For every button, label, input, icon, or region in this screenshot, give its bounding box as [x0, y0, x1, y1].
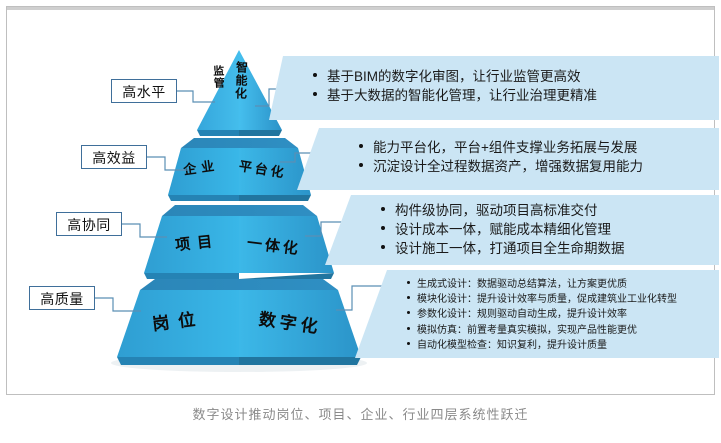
bullet-item: 能力平台化，平台+组件支撑业务拓展与发展 [359, 138, 643, 157]
bullet-text: 基于大数据的智能化管理，让行业治理更精准 [327, 86, 597, 105]
info-panel-enterprise-text: 能力平台化，平台+组件支撑业务拓展与发展 沉淀设计全过程数据资产，增强数据复用能… [359, 138, 643, 176]
bullet-item: 参数化设计：规则驱动自动生成，提升设计效率 [407, 307, 677, 322]
info-panel-project-text: 构件级协同，驱动项目高标准交付 设计成本一体，赋能成本精细化管理 设计施工一体，… [381, 201, 625, 258]
bullet-dot [313, 73, 317, 77]
bullet-dot [359, 163, 363, 167]
bullet-text: 参数化设计：规则驱动自动生成，提升设计效率 [417, 307, 627, 322]
bullet-item: 构件级协同，驱动项目高标准交付 [381, 201, 625, 220]
image-frame: 监管 智能化 企业 平台化 项目 一体化 岗位 数字化 [6, 6, 715, 395]
left-label-high-quality[interactable]: 高质量 [29, 286, 95, 310]
bullet-item: 设计成本一体，赋能成本精细化管理 [381, 220, 625, 239]
bullet-item: 沉淀设计全过程数据资产，增强数据复用能力 [359, 157, 643, 176]
bullet-dot [407, 311, 410, 314]
bullet-dot [407, 327, 410, 330]
bullet-item: 模块化设计：提升设计效率与质量，促成建筑业工业化转型 [407, 292, 677, 307]
bullet-item: 自动化模型检查：知识复利，提升设计质量 [407, 338, 677, 353]
bullet-dot [381, 226, 385, 230]
info-panel-position-text: 生成式设计：数据驱动总结算法，让方案更优质 模块化设计：提升设计效率与质量，促成… [407, 277, 677, 353]
bullet-item: 设计施工一体，打通项目全生命期数据 [381, 239, 625, 258]
bullet-text: 设计施工一体，打通项目全生命期数据 [395, 239, 625, 258]
info-panel-project: 构件级协同，驱动项目高标准交付 设计成本一体，赋能成本精细化管理 设计施工一体，… [325, 195, 719, 265]
bullet-text: 沉淀设计全过程数据资产，增强数据复用能力 [373, 157, 643, 176]
bullet-dot [313, 92, 317, 96]
bullet-text: 设计成本一体，赋能成本精细化管理 [395, 220, 611, 239]
left-label-high-efficiency[interactable]: 高效益 [81, 145, 147, 169]
bullet-text: 模拟仿真：前置考量真实模拟，实现产品性能更优 [417, 323, 637, 338]
bullet-item: 基于BIM的数字化审图，让行业监管更高效 [313, 67, 597, 86]
bullet-item: 模拟仿真：前置考量真实模拟，实现产品性能更优 [407, 323, 677, 338]
bullet-dot [407, 342, 410, 345]
bullet-dot [381, 207, 385, 211]
bullet-text: 自动化模型检查：知识复利，提升设计质量 [417, 338, 607, 353]
info-panel-industry: 基于BIM的数字化审图，让行业监管更高效 基于大数据的智能化管理，让行业治理更精… [269, 56, 719, 120]
info-panel-position: 生成式设计：数据驱动总结算法，让方案更优质 模块化设计：提升设计效率与质量，促成… [355, 270, 719, 358]
bullet-text: 构件级协同，驱动项目高标准交付 [395, 201, 598, 220]
bullet-text: 能力平台化，平台+组件支撑业务拓展与发展 [373, 138, 637, 157]
info-panel-industry-text: 基于BIM的数字化审图，让行业监管更高效 基于大数据的智能化管理，让行业治理更精… [313, 67, 597, 105]
bullet-dot [407, 281, 410, 284]
bullet-dot [359, 144, 363, 148]
left-label-high-collaboration[interactable]: 高协同 [56, 212, 122, 236]
bullet-item: 基于大数据的智能化管理，让行业治理更精准 [313, 86, 597, 105]
figure-caption: 数字设计推动岗位、项目、企业、行业四层系统性跃迁 [0, 404, 721, 423]
bullet-text: 基于BIM的数字化审图，让行业监管更高效 [327, 67, 581, 86]
bullet-item: 生成式设计：数据驱动总结算法，让方案更优质 [407, 277, 677, 292]
bullet-text: 生成式设计：数据驱动总结算法，让方案更优质 [417, 277, 627, 292]
info-panel-enterprise: 能力平台化，平台+组件支撑业务拓展与发展 沉淀设计全过程数据资产，增强数据复用能… [297, 128, 719, 190]
bullet-text: 模块化设计：提升设计效率与质量，促成建筑业工业化转型 [417, 292, 677, 307]
left-label-high-level[interactable]: 高水平 [111, 79, 177, 103]
diagram-canvas: 监管 智能化 企业 平台化 项目 一体化 岗位 数字化 [0, 0, 721, 443]
bullet-dot [381, 245, 385, 249]
bullet-dot [407, 296, 410, 299]
